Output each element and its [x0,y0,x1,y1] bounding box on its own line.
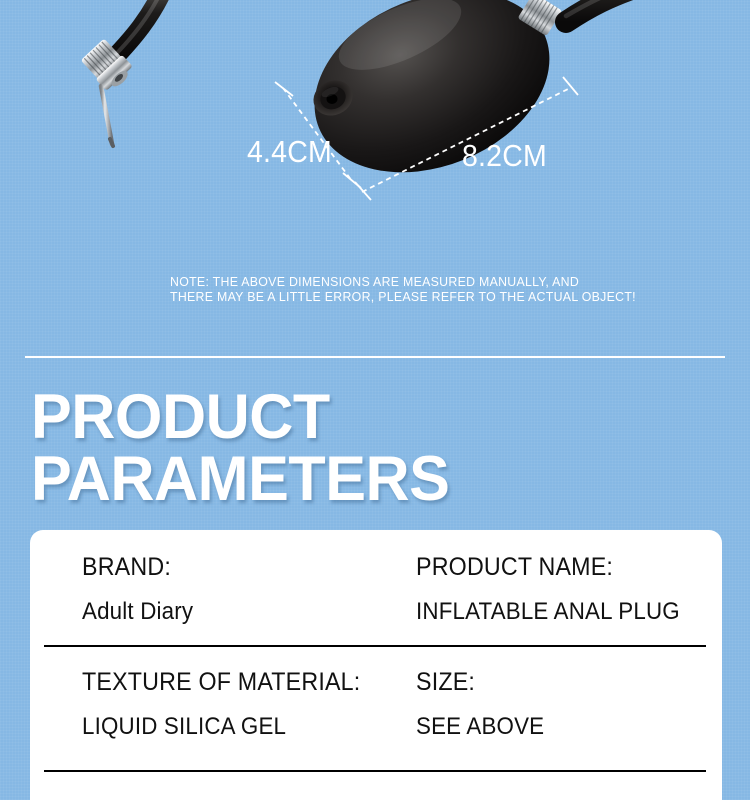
measurement-note: NOTE: THE ABOVE DIMENSIONS ARE MEASURED … [170,274,636,304]
needle-end [110,139,113,146]
needle-tip [101,86,112,144]
parameter-label-material: TEXTURE OF MATERIAL: [82,667,360,697]
parameter-value-brand: Adult Diary [82,598,193,626]
dimension-tick-length-end [563,77,578,95]
page-title-line-1: PRODUCT [31,386,449,448]
dimension-label-width: 4.4CM [247,134,332,170]
page-title: PRODUCT PARAMETERS [31,386,449,510]
product-detail-page: 4.4CM 8.2CM NOTE: THE ABOVE DIMENSIONS A… [0,0,750,800]
parameter-label-size: SIZE: [416,667,544,697]
product-parameters-card: BRAND: Adult Diary PRODUCT NAME: INFLATA… [30,530,722,800]
parameter-label-product-name: PRODUCT NAME: [416,552,680,582]
product-hero-section: 4.4CM 8.2CM NOTE: THE ABOVE DIMENSIONS A… [0,0,750,340]
section-divider-rule [25,356,725,358]
dimension-label-length: 8.2CM [462,138,547,174]
dimension-tick-width-start [275,82,293,96]
parameter-cell-size: SIZE: SEE ABOVE [416,667,554,741]
parameter-row-divider-2 [44,770,706,772]
page-title-line-2: PARAMETERS [31,448,449,510]
parameter-cell-material: TEXTURE OF MATERIAL: LIQUID SILICA GEL [82,667,381,741]
dimension-tick-length-start [355,182,371,200]
parameter-row-2: TEXTURE OF MATERIAL: LIQUID SILICA GEL S… [30,645,722,760]
parameter-label-brand: BRAND: [82,552,193,582]
parameter-cell-product-name: PRODUCT NAME: INFLATABLE ANAL PLUG [416,552,700,626]
parameter-row-1: BRAND: Adult Diary PRODUCT NAME: INFLATA… [30,530,722,645]
parameter-value-material: LIQUID SILICA GEL [82,713,360,741]
measurement-note-line-1: NOTE: THE ABOVE DIMENSIONS ARE MEASURED … [170,274,636,289]
parameter-cell-brand: BRAND: Adult Diary [82,552,202,626]
measurement-note-line-2: THERE MAY BE A LITTLE ERROR, PLEASE REFE… [170,289,636,304]
parameter-value-size: SEE ABOVE [416,713,544,741]
parameter-value-product-name: INFLATABLE ANAL PLUG [416,598,680,626]
